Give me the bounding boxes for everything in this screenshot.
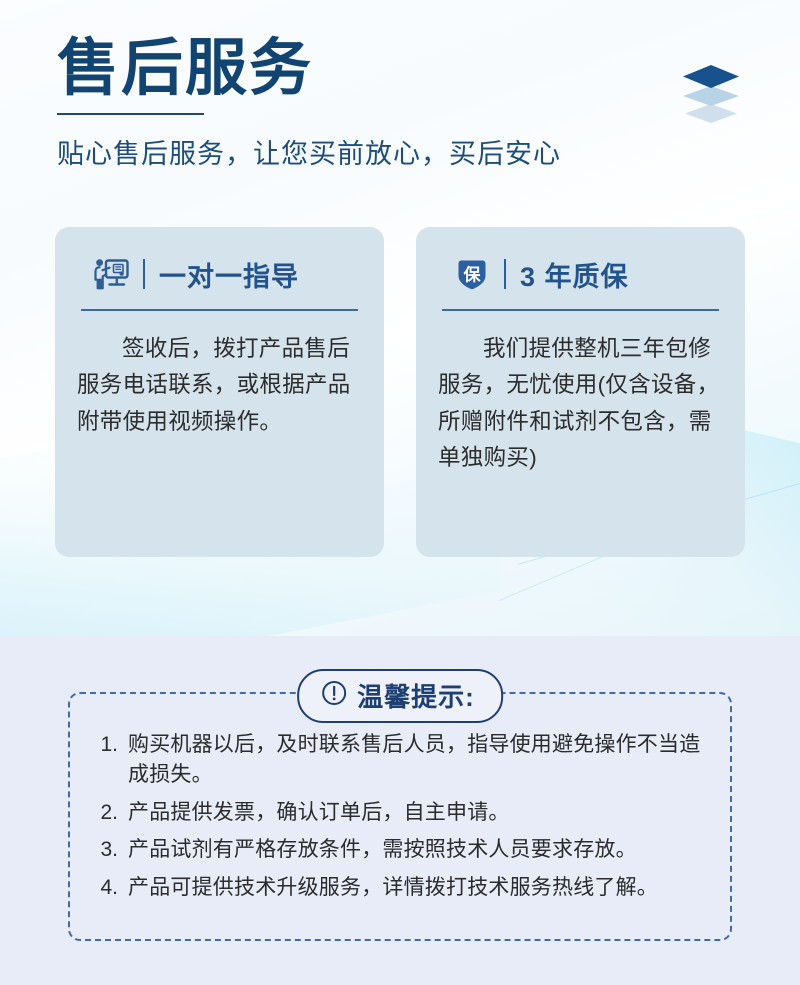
tips-list: 1. 购买机器以后，及时联系售后人员，指导使用避免操作不当造成损失。 2. 产品…: [92, 730, 704, 903]
feature-card-list: 一对一指导 签收后，拨打产品售后服务电话联系，或根据产品附带使用视频操作。 保 …: [55, 227, 745, 557]
card-body-text: 签收后，拨打产品售后服务电话联系，或根据产品附带使用视频操作。: [77, 331, 362, 440]
list-item-number: 1.: [92, 730, 118, 760]
warranty-shield-icon: 保: [454, 256, 490, 292]
card-header: 一对一指导: [77, 251, 362, 297]
list-item-text: 产品试剂有严格存放条件，需按照技术人员要求存放。: [128, 835, 704, 865]
svg-text:保: 保: [463, 264, 482, 284]
list-item-number: 4.: [92, 873, 118, 903]
card-header: 保 3 年质保: [438, 251, 723, 297]
title-underline-rule: [57, 113, 204, 115]
page-header: 售后服务 贴心售后服务，让您买前放心，买后安心: [57, 38, 760, 171]
card-divider: [81, 309, 358, 311]
tips-badge: 温馨提示:: [297, 669, 503, 723]
card-divider: [442, 309, 719, 311]
card-one-on-one-guidance: 一对一指导 签收后，拨打产品售后服务电话联系，或根据产品附带使用视频操作。: [55, 227, 384, 557]
list-item-number: 3.: [92, 835, 118, 865]
card-title: 一对一指导: [159, 255, 299, 294]
list-item: 1. 购买机器以后，及时联系售后人员，指导使用避免操作不当造成损失。: [92, 730, 704, 791]
list-item-text: 购买机器以后，及时联系售后人员，指导使用避免操作不当造成损失。: [128, 730, 704, 791]
after-sales-service-page: 售后服务 贴心售后服务，让您买前放心，买后安心: [0, 0, 800, 985]
page-title: 售后服务: [57, 38, 760, 101]
list-item: 3. 产品试剂有严格存放条件，需按照技术人员要求存放。: [92, 835, 704, 865]
card-three-year-warranty: 保 3 年质保 我们提供整机三年包修服务，无忧使用(仅含设备，所赠附件和试剂不包…: [416, 227, 745, 557]
card-title: 3 年质保: [520, 255, 629, 294]
card-body-text: 我们提供整机三年包修服务，无忧使用(仅含设备，所赠附件和试剂不包含，需单独购买): [438, 331, 723, 477]
exclamation-circle-icon: [321, 680, 347, 711]
page-subtitle: 贴心售后服务，让您买前放心，买后安心: [57, 132, 760, 171]
list-item-text: 产品可提供技术升级服务，详情拨打技术服务热线了解。: [128, 873, 704, 903]
presentation-training-icon: [93, 256, 129, 292]
list-item-number: 2.: [92, 798, 118, 828]
list-item: 2. 产品提供发票，确认订单后，自主申请。: [92, 798, 704, 828]
tips-dashed-box: 温馨提示: 1. 购买机器以后，及时联系售后人员，指导使用避免操作不当造成损失。…: [68, 692, 732, 941]
tips-section: 温馨提示: 1. 购买机器以后，及时联系售后人员，指导使用避免操作不当造成损失。…: [0, 636, 800, 985]
card-title-separator: [143, 259, 145, 289]
card-title-separator: [504, 259, 506, 289]
list-item-text: 产品提供发票，确认订单后，自主申请。: [128, 798, 704, 828]
list-item: 4. 产品可提供技术升级服务，详情拨打技术服务热线了解。: [92, 873, 704, 903]
tips-badge-label: 温馨提示:: [357, 677, 475, 714]
layers-stack-icon: [677, 60, 745, 126]
